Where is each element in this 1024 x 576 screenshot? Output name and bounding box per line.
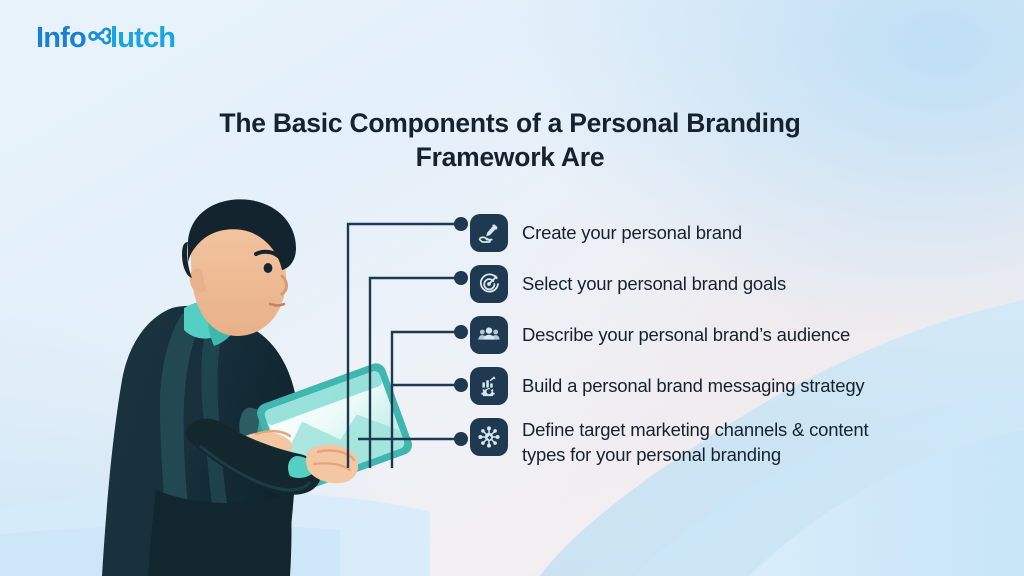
connector-dot-1	[454, 217, 468, 231]
connector-dot-5	[454, 432, 468, 446]
network-hub-icon	[470, 418, 508, 456]
list-item[interactable]: Build a personal brand messaging strateg…	[470, 367, 1010, 405]
list-item-label: Describe your personal brand’s audience	[522, 316, 850, 348]
connector-dot-2	[454, 271, 468, 285]
brand-logo[interactable]: Info lutch	[36, 22, 175, 54]
people-group-icon	[470, 316, 508, 354]
list-item[interactable]: Describe your personal brand’s audience	[470, 316, 1010, 354]
connector-line-1	[348, 224, 458, 468]
list-item-label: Define target marketing channels & conte…	[522, 418, 868, 467]
list-item-label: Select your personal brand goals	[522, 265, 786, 297]
list-item-label: Build a personal brand messaging strateg…	[522, 367, 864, 399]
hand-holding-pen-icon	[470, 214, 508, 252]
bar-chart-gear-icon	[470, 367, 508, 405]
list-item[interactable]: Create your personal brand	[470, 214, 1010, 252]
logo-infinity-icon	[85, 23, 111, 55]
connector-dot-3	[454, 325, 468, 339]
page-title: The Basic Components of a Personal Brand…	[180, 106, 840, 175]
connector-dot-4	[454, 378, 468, 392]
list-item[interactable]: Select your personal brand goals	[470, 265, 1010, 303]
connector-line-3	[392, 332, 458, 468]
infographic-canvas: Info lutch The Basic Components of a Per…	[0, 0, 1024, 576]
target-dart-icon	[470, 265, 508, 303]
connector-lines	[330, 200, 490, 490]
components-list: Create your personal brand Select your p…	[470, 214, 1010, 467]
logo-text-info: Info	[36, 24, 86, 53]
logo-text-clutch: lutch	[110, 24, 175, 53]
list-item[interactable]: Define target marketing channels & conte…	[470, 418, 1010, 467]
list-item-label: Create your personal brand	[522, 214, 742, 246]
